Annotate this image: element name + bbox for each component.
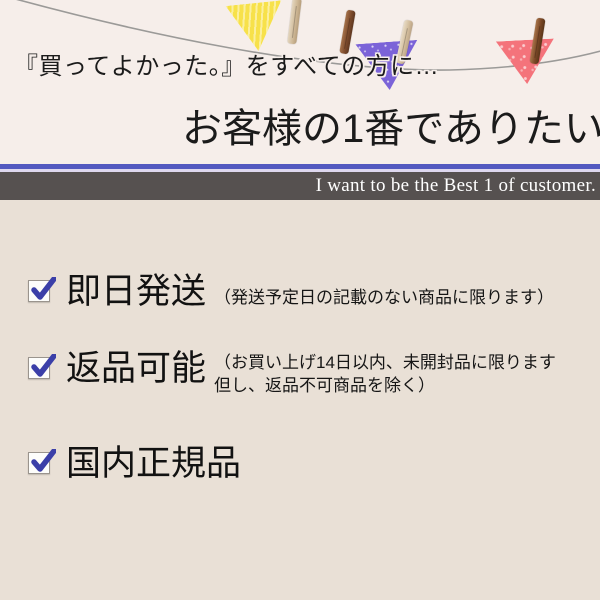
- promotional-banner: 『買ってよかった。』をすべての方に… お客様の1番でありたい。 I want t…: [0, 0, 600, 600]
- clothespin-light-1: [287, 0, 302, 44]
- hero-headline: お客様の1番でありたい。: [182, 96, 600, 154]
- feature-item-returns-accepted: 返品可能 （お買い上げ14日以内、未開封品に限ります 但し、返品不可商品を除く）: [28, 350, 556, 398]
- checkbox-checked-icon: [28, 280, 54, 306]
- checkbox-checked-icon: [28, 452, 54, 478]
- feature-note: （お買い上げ14日以内、未開封品に限ります 但し、返品不可商品を除く）: [214, 352, 556, 398]
- hero-tagline: 『買ってよかった。』をすべての方に…: [14, 46, 439, 81]
- slogan-band: I want to be the Best 1 of customer.: [0, 172, 600, 200]
- feature-title: 返品可能: [66, 350, 206, 389]
- feature-item-domestic-genuine: 国内正規品: [28, 445, 241, 484]
- pink-flag: [496, 39, 556, 86]
- feature-title: 国内正規品: [66, 445, 241, 484]
- feature-title: 即日発送: [66, 273, 206, 312]
- features-section: 即日発送 （発送予定日の記載のない商品に限ります） 返品可能 （お買い上げ14日…: [0, 200, 600, 600]
- hero-section: 『買ってよかった。』をすべての方に… お客様の1番でありたい。: [0, 0, 600, 164]
- slogan-text: I want to be the Best 1 of customer.: [316, 175, 600, 197]
- checkbox-checked-icon: [28, 357, 54, 383]
- feature-note: （発送予定日の記載のない商品に限ります）: [214, 287, 554, 310]
- feature-item-same-day-shipping: 即日発送 （発送予定日の記載のない商品に限ります）: [28, 273, 554, 312]
